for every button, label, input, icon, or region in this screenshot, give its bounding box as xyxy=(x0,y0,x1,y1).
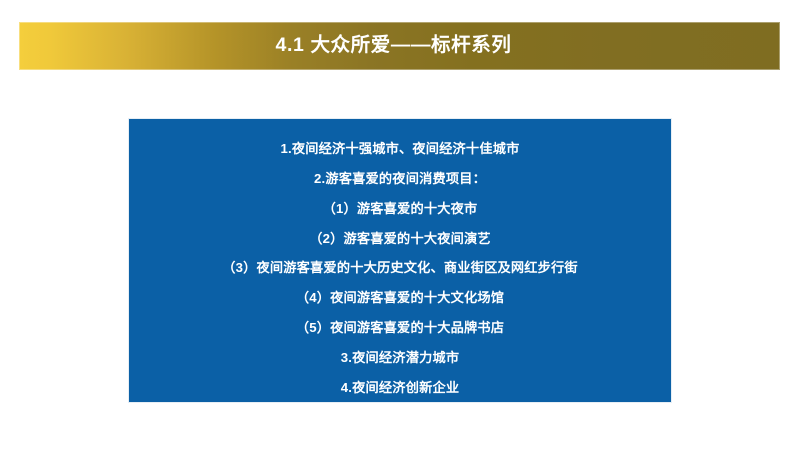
content-line-9: 4.夜间经济创新企业 xyxy=(341,372,460,402)
content-line-2: 2.游客喜爱的夜间消费项目： xyxy=(314,164,486,194)
content-panel: 1.夜间经济十强城市、夜间经济十佳城市 2.游客喜爱的夜间消费项目： （1）游客… xyxy=(128,118,672,403)
content-line-1: 1.夜间经济十强城市、夜间经济十佳城市 xyxy=(281,134,520,164)
content-line-6: （4）夜间游客喜爱的十大文化场馆 xyxy=(296,283,504,313)
section-title-bar: 4.1 大众所爱——标杆系列 xyxy=(19,22,780,70)
content-line-3: （1）游客喜爱的十大夜市 xyxy=(323,194,478,224)
page-title: 4.1 大众所爱——标杆系列 xyxy=(276,36,512,56)
content-line-4: （2）游客喜爱的十大夜间演艺 xyxy=(309,223,491,253)
content-line-8: 3.夜间经济潜力城市 xyxy=(341,342,460,372)
content-line-7: （5）夜间游客喜爱的十大品牌书店 xyxy=(296,313,504,343)
slide-canvas: 4.1 大众所爱——标杆系列 1.夜间经济十强城市、夜间经济十佳城市 2.游客喜… xyxy=(0,0,800,450)
content-line-5: （3）夜间游客喜爱的十大历史文化、商业街区及网红步行街 xyxy=(222,253,578,283)
